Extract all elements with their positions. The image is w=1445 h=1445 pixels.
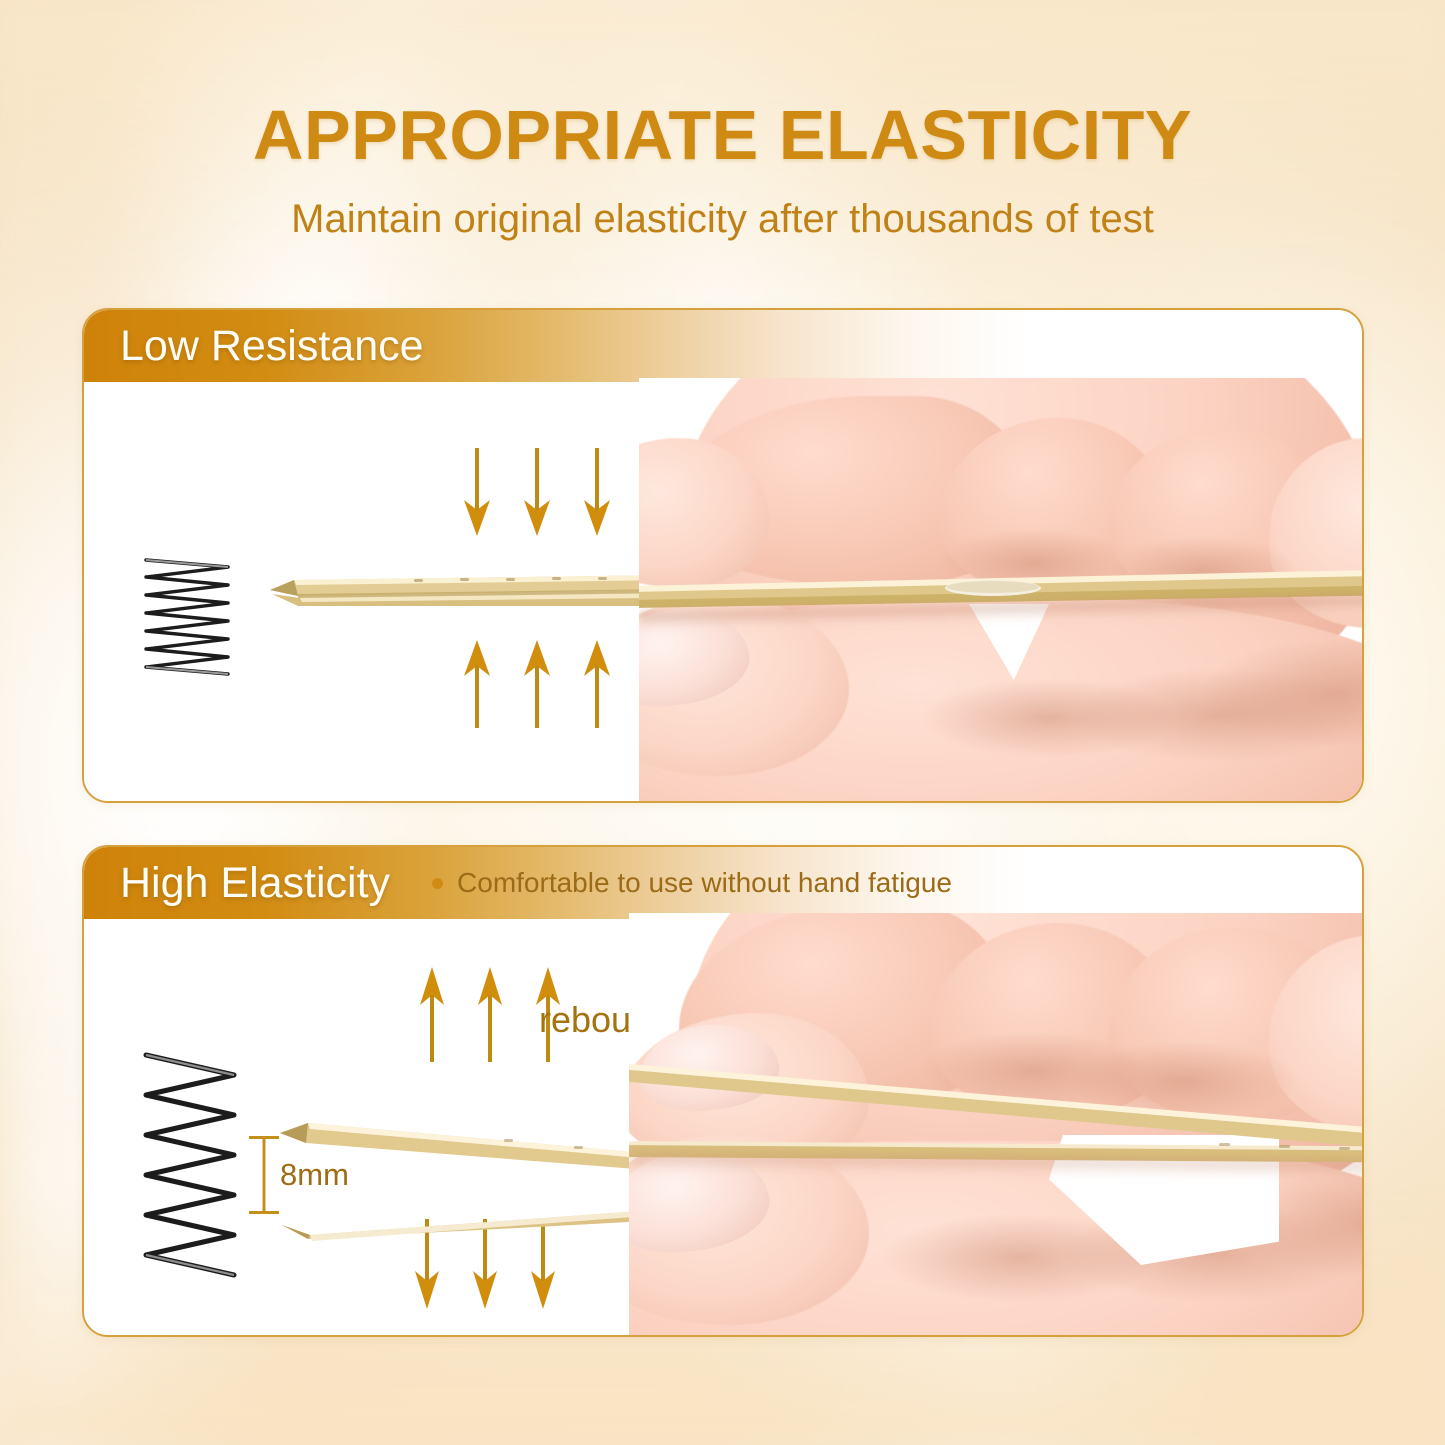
arrow-down-icon [462,448,492,536]
panel-low-body [84,382,1362,801]
panel-high-banner: High Elasticity Comfortable to use witho… [84,847,1362,919]
spring-compressed-icon [122,554,252,679]
arrow-up-icon [462,640,492,728]
dimension-line [263,1136,266,1214]
panel-high-note: Comfortable to use without hand fatigue [432,867,952,899]
header: APPROPRIATE ELASTICITY Maintain original… [0,0,1445,242]
page-title: APPROPRIATE ELASTICITY [0,95,1445,175]
panel-high-body: rebound easily 8mm [84,919,1362,1335]
arrow-down-icon [582,448,612,536]
panel-low-banner: Low Resistance [84,310,1362,382]
arrow-down-icon [522,448,552,536]
arrow-up-icon [419,967,445,1062]
arrow-up-icon [477,967,503,1062]
panel-low-title: Low Resistance [120,322,424,371]
panel-high-note-text: Comfortable to use without hand fatigue [457,867,952,899]
panel-low-resistance: Low Resistance [82,308,1364,803]
panel-high-elasticity: High Elasticity Comfortable to use witho… [82,845,1364,1337]
arrow-up-icon [522,640,552,728]
arrow-up-icon [582,640,612,728]
arrows-down-low [462,448,612,536]
panel-high-title: High Elasticity [120,859,390,908]
page-subtitle: Maintain original elasticity after thous… [0,197,1445,242]
photo-hand-open-tweezers [629,913,1364,1337]
arrows-up-low [462,640,612,728]
photo-hand-closed-tweezers [639,378,1364,802]
spring-extended-icon [120,1047,260,1282]
bullet-icon [432,878,443,889]
